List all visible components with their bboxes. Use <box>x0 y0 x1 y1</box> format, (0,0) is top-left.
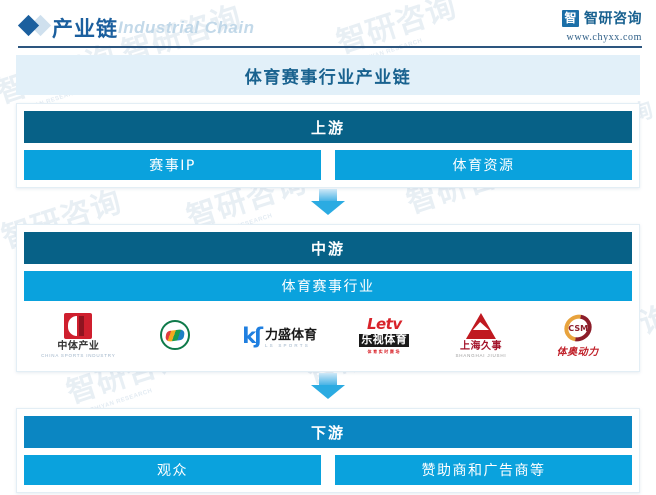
diagram-title: 体育赛事行业产业链 <box>16 55 640 95</box>
tier-upstream: 上游 赛事IP 体育资源 <box>16 103 640 188</box>
company-logo-letv[interactable]: Letv 乐视体育 体育实时赛场 <box>338 311 430 361</box>
company-name-en: CHINA SPORTS INDUSTRY <box>41 354 115 359</box>
tier-downstream-items: 观众 赞助商和广告商等 <box>24 455 632 485</box>
header-divider <box>18 46 642 48</box>
letv-wordmark-icon: Letv <box>367 317 402 332</box>
company-tagline: 体育实时赛场 <box>367 349 401 355</box>
zhongti-mark-icon <box>64 313 92 339</box>
item-upstream-0[interactable]: 赛事IP <box>24 150 321 180</box>
company-name-en: CSM <box>568 323 588 332</box>
company-logo-zhongti[interactable]: 中体产业 CHINA SPORTS INDUSTRY <box>32 311 124 361</box>
brand-logo-icon: 智 <box>562 10 579 27</box>
jiushi-mark-icon <box>466 313 496 339</box>
midstream-company-logos: 中体产业 CHINA SPORTS INDUSTRY kʃ 力盛体育 <box>24 308 632 364</box>
brand-name: 智研咨询 <box>584 8 642 28</box>
midstream-industry-band[interactable]: 体育赛事行业 <box>24 271 632 301</box>
ls-sports-mark-icon: kʃ 力盛体育 LS SPORTS <box>242 324 317 348</box>
tier-header-upstream: 上游 <box>24 111 632 143</box>
company-logo-ls-sports[interactable]: kʃ 力盛体育 LS SPORTS <box>226 311 334 361</box>
company-logo-jiushi[interactable]: 上海久事 SHANGHAI JIUSHI <box>435 311 527 361</box>
company-name-cn: 乐视体育 <box>359 334 409 347</box>
company-name-cn: 体奥动力 <box>557 343 599 358</box>
company-name-en: LS SPORTS <box>265 343 310 348</box>
page-title: 产业链 <box>52 13 118 43</box>
page-header: Industrial Chain 产业链 智 智研咨询 www.chyxx.co… <box>0 0 656 50</box>
item-upstream-1[interactable]: 体育资源 <box>335 150 632 180</box>
arrow-down-icon <box>311 373 345 399</box>
green-circle-mark-icon <box>160 320 190 350</box>
csm-mark-icon: CSM <box>564 315 592 341</box>
arrow-midstream-to-downstream <box>0 372 656 400</box>
tier-downstream: 下游 观众 赞助商和广告商等 <box>16 408 640 493</box>
industrial-chain-diagram: 体育赛事行业产业链 上游 赛事IP 体育资源 中游 体育赛事行业 <box>0 55 656 493</box>
tier-header-downstream: 下游 <box>24 416 632 448</box>
company-name-en: SHANGHAI JIUSHI <box>455 354 506 359</box>
item-downstream-0[interactable]: 观众 <box>24 455 321 485</box>
page-root: 智研咨询 ZHIYAN RESEARCH 智研咨询 智研咨询 ZHIYAN RE… <box>0 0 656 495</box>
company-name-cn: 力盛体育 <box>265 324 317 343</box>
tier-header-midstream: 中游 <box>24 232 632 264</box>
arrow-upstream-to-midstream <box>0 188 656 216</box>
company-logo-green-circle[interactable] <box>129 311 221 361</box>
brand-url: www.chyxx.com <box>562 32 642 43</box>
brand-block: 智 智研咨询 www.chyxx.com <box>562 8 642 43</box>
company-name-cn: 上海久事 <box>460 341 502 352</box>
company-name-cn: 中体产业 <box>57 341 99 352</box>
tier-midstream: 中游 体育赛事行业 中体产业 CHINA SPORTS INDUSTRY <box>16 224 640 372</box>
header-subtitle-en: Industrial Chain <box>118 18 254 38</box>
item-downstream-1[interactable]: 赞助商和广告商等 <box>335 455 632 485</box>
company-logo-csm[interactable]: CSM 体奥动力 <box>532 311 624 361</box>
tier-upstream-items: 赛事IP 体育资源 <box>24 150 632 180</box>
arrow-down-icon <box>311 189 345 215</box>
